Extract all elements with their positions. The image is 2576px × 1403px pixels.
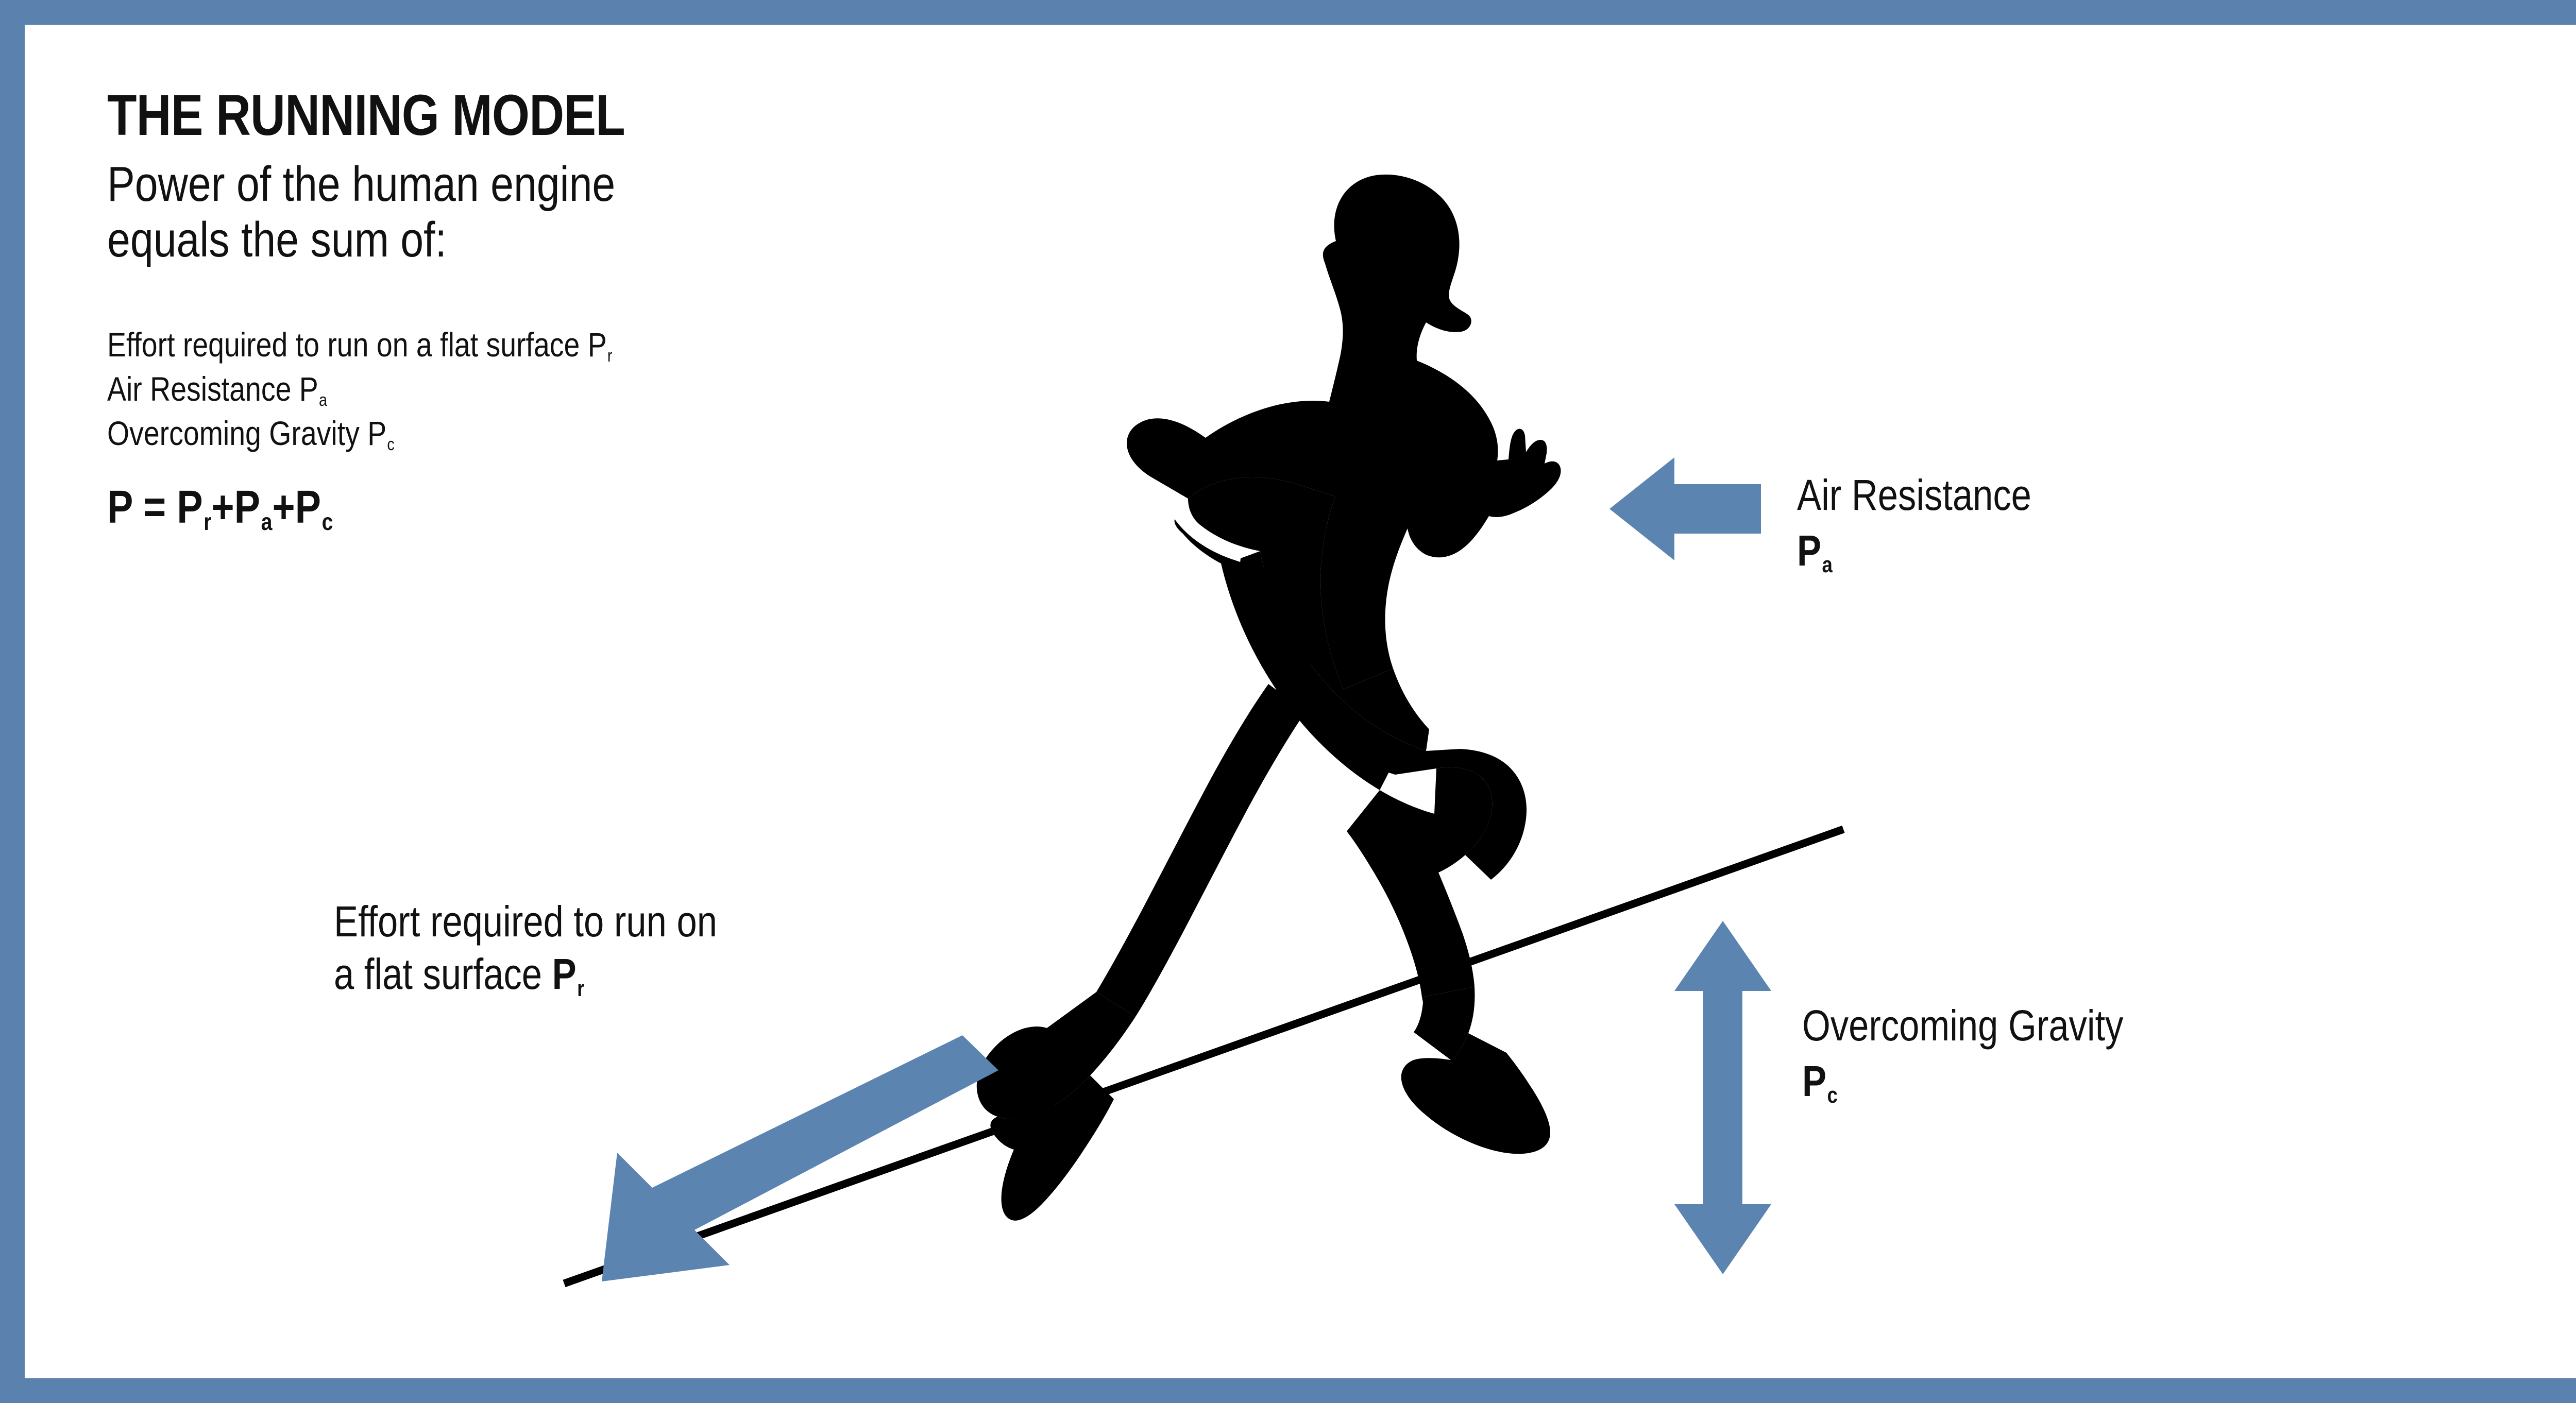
component-list: Effort required to run on a flat surface… (107, 323, 1059, 455)
formula-sub-3: c (321, 508, 333, 535)
list-item-text: Effort required to run on a flat surface… (107, 326, 607, 364)
formula-plus-1: + (212, 482, 234, 533)
callout-flat-surface-text: a flat surface (334, 950, 552, 998)
subtitle-line-1: Power of the human engine (107, 157, 1059, 212)
callout-air-resistance-line-2: Pa (1797, 523, 2031, 579)
callout-overcoming-gravity-subscript: c (1826, 1083, 1838, 1108)
callout-air-resistance: Air Resistance Pa (1797, 468, 2076, 578)
callout-flat-surface-subscript: r (577, 976, 585, 1001)
callout-overcoming-gravity-line-2: Pc (1802, 1054, 2123, 1109)
callout-flat-surface-symbol: P (552, 950, 577, 998)
list-item-subscript: r (607, 346, 613, 366)
page-title: THE RUNNING MODEL (107, 87, 929, 144)
callout-overcoming-gravity-symbol: P (1802, 1057, 1826, 1105)
list-item-subscript: c (386, 435, 395, 454)
intro-text-block: THE RUNNING MODEL Power of the human eng… (107, 87, 1086, 531)
formula-term-3: P (295, 482, 321, 533)
list-item-text: Air Resistance P (107, 370, 318, 408)
callout-air-resistance-subscript: a (1821, 552, 1833, 577)
formula-equals: = (132, 482, 177, 533)
formula-lhs: P (107, 482, 132, 533)
power-formula: P = Pr+Pa+Pc (107, 484, 929, 531)
callout-air-resistance-symbol: P (1797, 526, 1821, 575)
formula-term-1: P (177, 482, 202, 533)
flat-surface-arrow (602, 1035, 998, 1281)
callout-air-resistance-line-1: Air Resistance (1797, 468, 2031, 523)
formula-term-2: P (234, 482, 260, 533)
diagram-frame: THE RUNNING MODEL Power of the human eng… (0, 0, 2576, 1403)
overcoming-gravity-arrow (1674, 921, 1771, 1274)
callout-overcoming-gravity-line-1: Overcoming Gravity (1802, 998, 2123, 1054)
formula-plus-2: + (273, 482, 295, 533)
formula-sub-1: r (203, 508, 212, 535)
list-item-text: Overcoming Gravity P (107, 414, 386, 452)
callout-flat-surface-line-1: Effort required to run on (334, 895, 717, 948)
callout-flat-surface-line-2: a flat surface Pr (334, 948, 717, 1000)
callout-flat-surface: Effort required to run on a flat surface… (334, 895, 790, 1001)
formula-sub-2: a (260, 508, 272, 535)
subtitle: Power of the human engine equals the sum… (107, 157, 1059, 267)
air-resistance-arrow (1609, 457, 1761, 560)
callout-overcoming-gravity: Overcoming Gravity Pc (1802, 998, 2184, 1109)
subtitle-line-2: equals the sum of: (107, 212, 1059, 268)
diagram-canvas: THE RUNNING MODEL Power of the human eng… (25, 25, 2576, 1378)
list-item: Effort required to run on a flat surface… (107, 323, 1059, 367)
list-item: Overcoming Gravity Pc (107, 412, 1059, 456)
list-item-subscript: a (318, 390, 327, 410)
list-item: Air Resistance Pa (107, 367, 1059, 412)
